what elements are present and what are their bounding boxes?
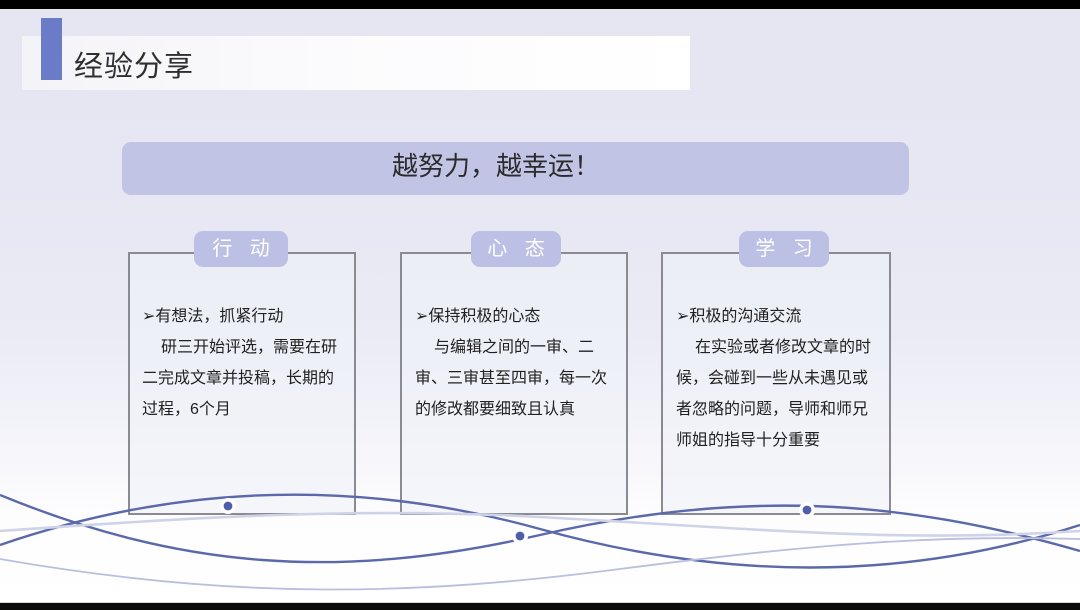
decorative-wave-dots bbox=[0, 473, 1080, 603]
card-label-learning: 学 习 bbox=[739, 231, 829, 267]
card-label-action: 行 动 bbox=[194, 231, 288, 267]
card-bullet-action: ➢有想法，抓紧行动 bbox=[142, 301, 347, 332]
card-bullet-learning: ➢积极的沟通交流 bbox=[676, 301, 882, 332]
letterbox-bottom-bar bbox=[0, 603, 1080, 610]
quote-banner-text: 越努力，越幸运！ bbox=[392, 148, 772, 184]
card-body-action: ➢有想法，抓紧行动 研三开始评选，需要在研二完成文章并投稿，长期的过程，6个月 bbox=[142, 301, 347, 425]
card-bullet-mindset: ➢保持积极的心态 bbox=[415, 301, 620, 332]
card-label-mindset: 心 态 bbox=[471, 231, 561, 267]
card-body-mindset: ➢保持积极的心态 与编辑之间的一审、二审、三审甚至四审，每一次的修改都要细致且认… bbox=[415, 301, 620, 425]
title-accent-bar bbox=[41, 18, 62, 80]
presentation-slide: 经验分享 越努力，越幸运！ 行 动 ➢有想法，抓紧行动 研三开始评选，需要在研二… bbox=[0, 0, 1080, 610]
page-title: 经验分享 bbox=[74, 50, 194, 84]
slide-canvas: 经验分享 越努力，越幸运！ 行 动 ➢有想法，抓紧行动 研三开始评选，需要在研二… bbox=[0, 9, 1080, 603]
card-body-learning: ➢积极的沟通交流 在实验或者修改文章的时候，会碰到一些从未遇见或者忽略的问题，导… bbox=[676, 301, 882, 456]
wave-dot-2 bbox=[803, 506, 812, 515]
card-detail-learning: 在实验或者修改文章的时候，会碰到一些从未遇见或者忽略的问题，导师和师兄师姐的指导… bbox=[676, 332, 882, 456]
card-detail-mindset: 与编辑之间的一审、二审、三审甚至四审，每一次的修改都要细致且认真 bbox=[415, 332, 620, 425]
card-detail-action: 研三开始评选，需要在研二完成文章并投稿，长期的过程，6个月 bbox=[142, 332, 347, 425]
letterbox-top-bar bbox=[0, 0, 1080, 9]
wave-dot-1 bbox=[224, 502, 233, 511]
wave-dot-3 bbox=[516, 532, 525, 541]
